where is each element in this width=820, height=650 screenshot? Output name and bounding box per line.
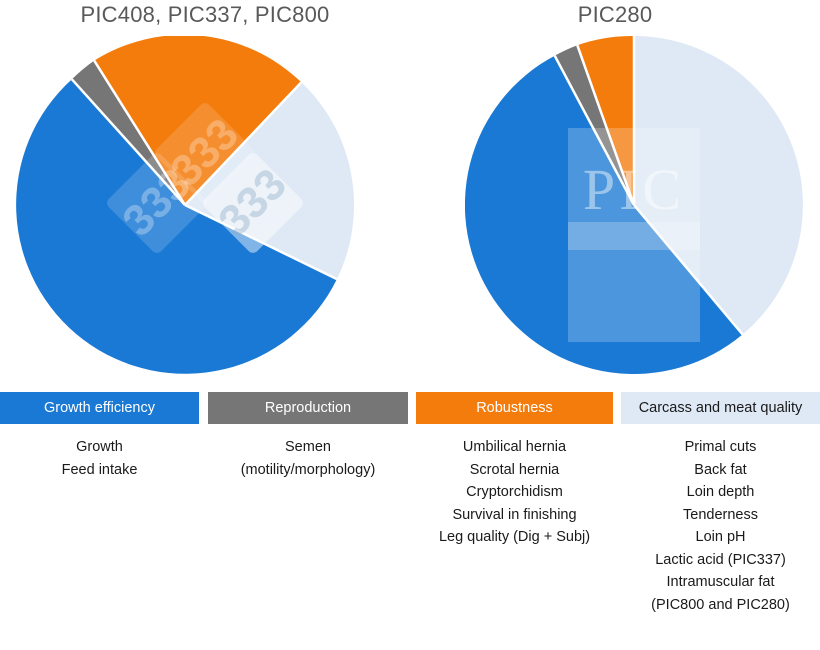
legend-chip-label: Reproduction	[265, 400, 351, 416]
chart-block-pic408-337-800: PIC408, PIC337, PIC800	[0, 0, 410, 382]
trait-line: Back fat	[621, 459, 820, 482]
trait-line: Loin depth	[621, 481, 820, 504]
chart-block-pic280: PIC280 PIC	[410, 0, 820, 382]
trait-column-carcass-meat-quality: Primal cutsBack fatLoin depthTendernessL…	[621, 436, 820, 616]
pie-chart-left: 333 333 333	[16, 36, 354, 374]
pie-chart-right: PIC	[465, 36, 803, 374]
trait-column-growth-efficiency: GrowthFeed intake	[0, 436, 199, 481]
trait-line: Scrotal hernia	[416, 459, 613, 482]
pie-charts-row: PIC408, PIC337, PIC800	[0, 0, 820, 382]
legend-chip-label: Carcass and meat quality	[639, 400, 803, 416]
legend-chip-carcass-meat-quality[interactable]: Carcass and meat quality	[621, 392, 820, 424]
trait-line: Tenderness	[621, 504, 820, 527]
trait-line: Growth	[0, 436, 199, 459]
trait-line: Intramuscular fat	[621, 571, 820, 594]
pie-svg-left	[16, 36, 354, 374]
trait-column-robustness: Umbilical herniaScrotal herniaCryptorchi…	[416, 436, 613, 549]
legend-chip-growth-efficiency[interactable]: Growth efficiency	[0, 392, 199, 424]
pie-svg-right	[465, 36, 803, 374]
trait-column-reproduction: Semen(motility/morphology)	[208, 436, 408, 481]
trait-line: (PIC800 and PIC280)	[621, 594, 820, 617]
legend-chip-reproduction[interactable]: Reproduction	[208, 392, 408, 424]
legend-chip-label: Robustness	[476, 400, 553, 416]
trait-line: (motility/morphology)	[208, 459, 408, 482]
trait-line: Leg quality (Dig + Subj)	[416, 526, 613, 549]
trait-line: Semen	[208, 436, 408, 459]
trait-line: Survival in finishing	[416, 504, 613, 527]
trait-line: Cryptorchidism	[416, 481, 613, 504]
trait-line: Lactic acid (PIC337)	[621, 549, 820, 572]
legend-chip-robustness[interactable]: Robustness	[416, 392, 613, 424]
chart-title-left: PIC408, PIC337, PIC800	[0, 2, 410, 28]
trait-line: Feed intake	[0, 459, 199, 482]
trait-line: Umbilical hernia	[416, 436, 613, 459]
trait-line: Loin pH	[621, 526, 820, 549]
trait-line: Primal cuts	[621, 436, 820, 459]
trait-columns: GrowthFeed intake Semen(motility/morphol…	[0, 436, 820, 636]
legend-bar: Growth efficiency Reproduction Robustnes…	[0, 392, 820, 424]
chart-title-right: PIC280	[410, 2, 820, 28]
legend-chip-label: Growth efficiency	[44, 400, 155, 416]
